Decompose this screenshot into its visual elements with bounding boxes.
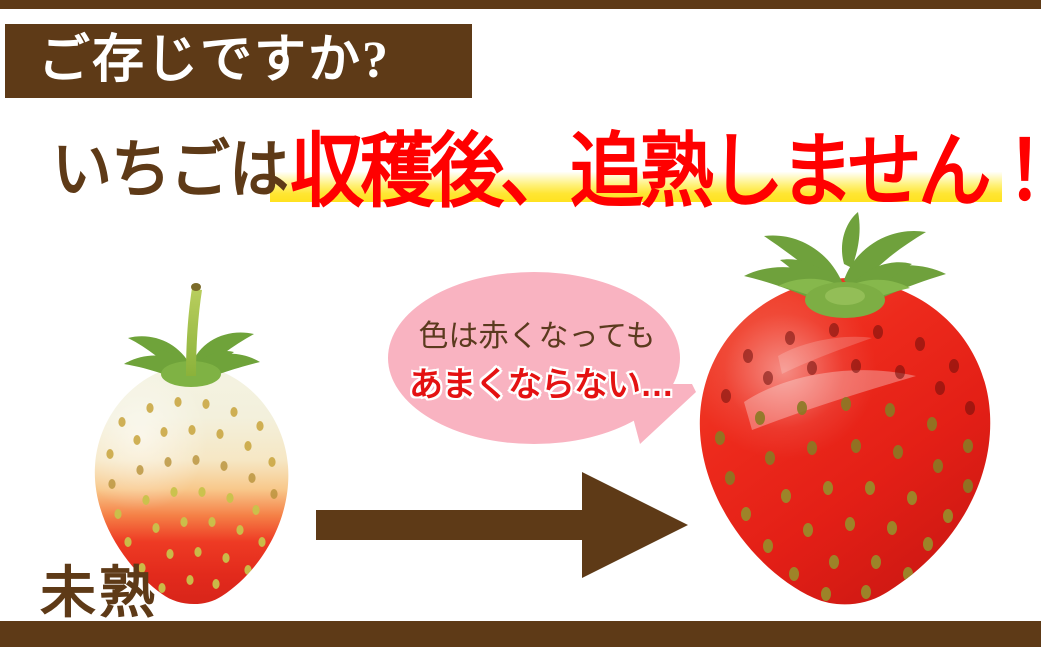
- speech-bubble: 色は赤くなっても あまくならない…: [388, 272, 706, 457]
- speech-bubble-line-1: 色は赤くなっても: [419, 311, 656, 355]
- eyebrow-text: ご存じですか?: [38, 24, 468, 98]
- speech-bubble-line-2: あまくならない…: [409, 357, 673, 406]
- headline-lead: いちごは: [52, 118, 288, 210]
- speech-bubble-text: 色は赤くなっても あまくならない…: [388, 272, 680, 444]
- unripe-label: 未熟: [40, 548, 158, 629]
- ripe-strawberry-icon: [686, 206, 1004, 620]
- arrow-right-icon: [316, 470, 688, 580]
- bottom-rule: [0, 621, 1041, 647]
- headline: いちごは 収穫後、追熟しません！: [0, 118, 1041, 210]
- headline-line: いちごは 収穫後、追熟しません！: [0, 118, 1041, 210]
- poster-canvas: ご存じですか? いちごは 収穫後、追熟しません！: [0, 0, 1041, 647]
- top-rule: [0, 0, 1041, 9]
